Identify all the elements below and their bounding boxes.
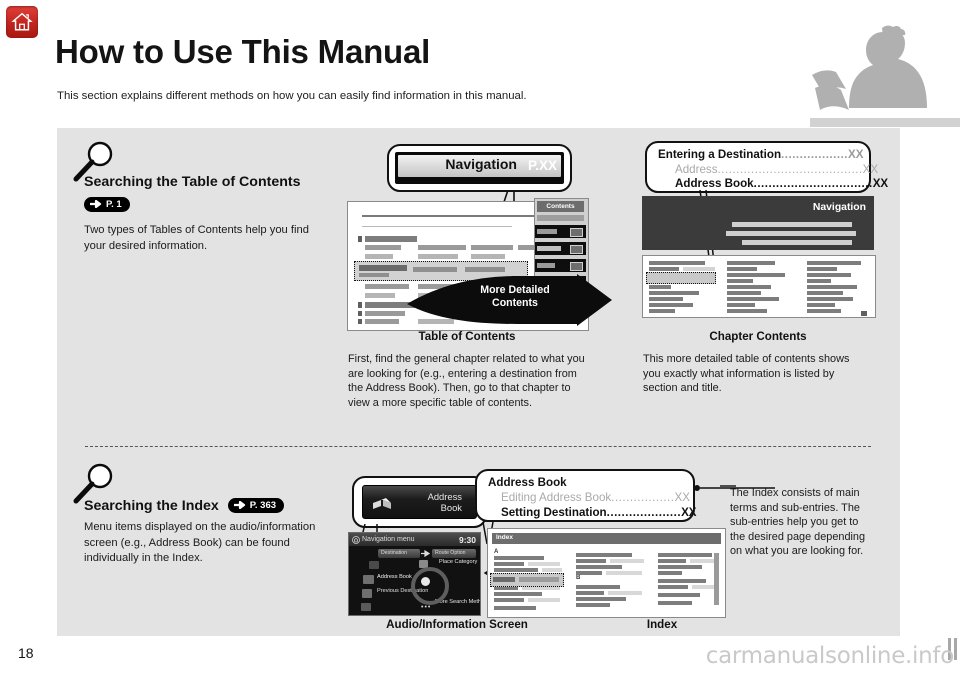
- section-index-page-ref[interactable]: P. 363: [228, 498, 284, 513]
- arrow-right-icon: [90, 199, 103, 207]
- index-right-caption: Index: [547, 618, 777, 631]
- arrow-right-icon: [421, 550, 431, 557]
- index-left-caption: Audio/Information Screen: [342, 618, 572, 631]
- section-toc-heading: Searching the Table of Contents: [84, 174, 301, 190]
- previous-destination-icon: [362, 589, 372, 598]
- section-toc-body: Two types of Tables of Contents help you…: [84, 223, 316, 254]
- index-callout-row-1: Setting Destination....................X…: [501, 506, 697, 520]
- section-divider: [85, 446, 871, 447]
- toc-caption-title: Table of Contents: [347, 330, 587, 343]
- nav-icon-placeholder-3: [361, 603, 371, 611]
- index-side-note: The Index consists of main terms and sub…: [730, 486, 870, 559]
- section-index-heading: Searching the Index P. 363: [84, 498, 284, 514]
- nav-icon-placeholder-1: [369, 561, 379, 569]
- section-toc-page-ref[interactable]: P. 1: [84, 196, 130, 214]
- navigation-screen-clock: 9:30: [459, 535, 476, 545]
- more-detailed-contents-label: More Detailed Contents: [445, 284, 585, 309]
- index-callout-title: Address Book: [488, 476, 567, 490]
- section-index-heading-text: Searching the Index: [84, 498, 219, 514]
- home-icon[interactable]: [6, 6, 38, 38]
- toc-contents-tab-label: Contents: [537, 201, 584, 212]
- chapter-nav-header-label: Navigation: [813, 202, 866, 213]
- address-book-button-label: Address Book: [428, 491, 462, 513]
- address-book-icon: [372, 497, 392, 512]
- nav-btn-route-option[interactable]: Route Option: [432, 549, 476, 558]
- toc-caption-body: First, find the general chapter related …: [348, 352, 588, 410]
- chapter-nav-header: Navigation: [642, 196, 874, 250]
- index-callout-row-0: Editing Address Book.................XX: [501, 491, 690, 505]
- chapter-contents-callout: Entering a Destination..................…: [645, 141, 871, 193]
- navigation-screen: Navigation menu 9:30 Destination Route O…: [348, 532, 481, 616]
- index-document-label: Index: [496, 534, 513, 541]
- arrow-right-icon: [234, 500, 247, 508]
- section-toc-page-ref-text: P. 1: [106, 199, 122, 210]
- chapter-contents-document: [642, 255, 876, 318]
- ellipsis-icon: •••: [421, 604, 431, 611]
- navigation-callout-bar: Navigation P.XX: [395, 152, 564, 184]
- address-book-icon: [363, 575, 374, 584]
- chapter-callout-row-0: Entering a Destination..................…: [658, 148, 864, 162]
- nav-dial-center[interactable]: [421, 577, 430, 586]
- address-book-button-callout: Address Book: [352, 476, 487, 528]
- index-document: Index A B: [487, 528, 726, 618]
- chapter-doc-highlight: [646, 272, 716, 284]
- index-letter-a: A: [494, 549, 498, 555]
- address-book-button[interactable]: Address Book: [362, 485, 477, 519]
- index-callout: Address Book Editing Address Book.......…: [475, 469, 695, 522]
- navigation-callout: Navigation P.XX: [387, 144, 572, 192]
- nav-dial[interactable]: [411, 567, 449, 605]
- section-toc-heading-text: Searching the Table of Contents: [84, 174, 301, 190]
- page-title: How to Use This Manual: [55, 33, 430, 71]
- intro-text: This section explains different methods …: [57, 90, 527, 102]
- watermark: carmanualsonline.info: [706, 643, 954, 669]
- index-highlighted-row: [490, 573, 564, 587]
- section-index-body: Menu items displayed on the audio/inform…: [84, 520, 334, 567]
- person-reading-icon: [810, 22, 960, 127]
- nav-btn-address-book[interactable]: Address Book: [376, 574, 416, 586]
- navigation-callout-label: Navigation: [445, 156, 517, 172]
- chapter-caption-body: This more detailed table of contents sho…: [643, 352, 867, 396]
- nav-btn-destination[interactable]: Destination: [378, 549, 420, 558]
- content-panel: Searching the Table of Contents P. 1 Two…: [57, 128, 900, 636]
- chapter-callout-row-1: Address.................................…: [675, 163, 878, 177]
- index-letter-b: B: [576, 575, 580, 581]
- page-number: 18: [18, 645, 34, 661]
- chapter-callout-row-2: Address Book............................…: [675, 177, 888, 191]
- section-index-page-ref-text: P. 363: [250, 500, 276, 511]
- chapter-caption-title: Chapter Contents: [642, 330, 874, 343]
- home-icon[interactable]: [352, 536, 360, 544]
- navigation-callout-page: P.XX: [528, 158, 557, 173]
- navigation-screen-title: Navigation menu: [362, 536, 415, 543]
